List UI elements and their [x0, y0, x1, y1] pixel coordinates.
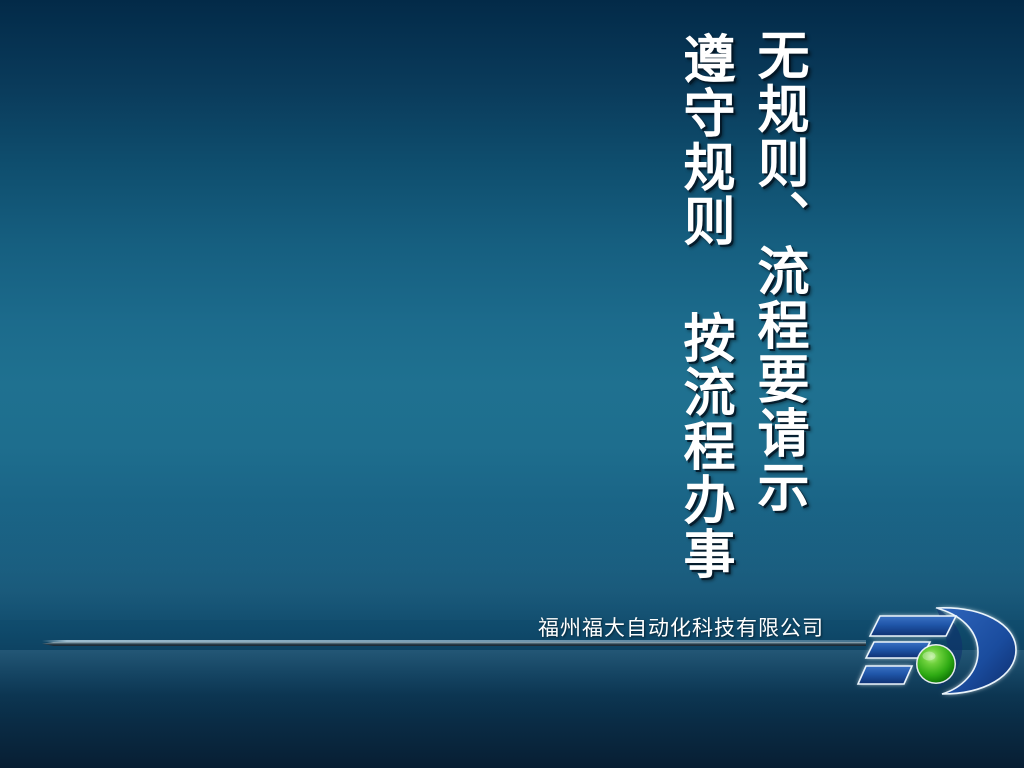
headline-column-right: 无规则、流程要请示 [752, 28, 804, 514]
headline-column-left: 遵守规则 按流程办事 [678, 32, 730, 581]
footer-company-name: 福州福大自动化科技有限公司 [538, 612, 824, 642]
company-logo-fd-icon [850, 596, 1022, 700]
logo-green-sphere-icon [918, 646, 955, 683]
footer-divider-core [42, 642, 866, 646]
slide-canvas: 无规则、流程要请示 遵守规则 按流程办事 福州福大自动化科技有限公司 [0, 0, 1024, 768]
